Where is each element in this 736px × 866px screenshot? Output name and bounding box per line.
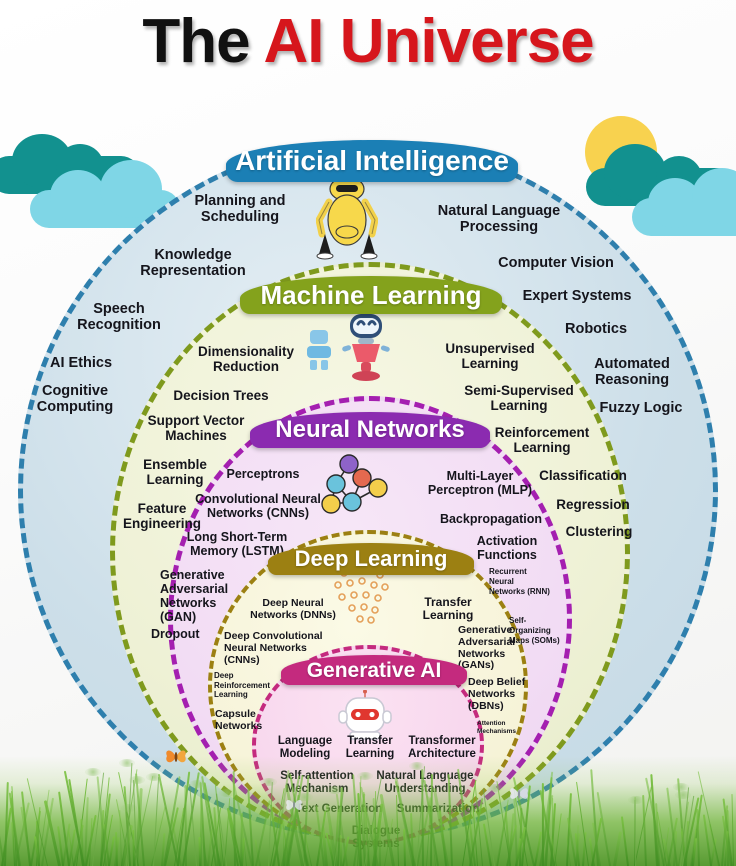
topic-attention-mechanisms[interactable]: Attention Mechanisms [477,720,533,736]
butterfly-icon [284,798,304,813]
topic-recurrent-neural-networks[interactable]: Recurrent Neural Networks (RNN) [489,567,575,596]
topic-regression[interactable]: Regression [538,497,648,512]
cloud-icon [632,168,736,236]
topic-multi-layer-perceptron[interactable]: Multi-Layer Perceptron (MLP) [416,469,544,497]
topic-support-vector-machines[interactable]: Support Vector Machines [131,413,261,443]
topic-deep-belief-networks[interactable]: Deep Belief Networks (DBNs) [468,677,538,712]
topic-transfer-learning-dl[interactable]: Transfer Learning [406,596,490,623]
butterfly-icon [508,786,530,802]
topic-dimensionality-reduction[interactable]: Dimensionality Reduction [176,344,316,374]
title-part-the: The [142,7,263,76]
topic-expert-systems[interactable]: Expert Systems [512,288,642,304]
topic-planning-and-scheduling[interactable]: Planning and Scheduling [172,193,308,225]
topic-semi-supervised-learning[interactable]: Semi-Supervised Learning [449,383,589,413]
topic-convolutional-neural-networks[interactable]: Convolutional Neural Networks (CNNs) [186,492,330,520]
topic-fuzzy-logic[interactable]: Fuzzy Logic [586,400,696,416]
topic-ai-ethics[interactable]: AI Ethics [28,355,134,371]
topic-generative-adversarial-networks-dl[interactable]: Generative Adversarial Networks (GANs) [458,625,532,672]
topic-backpropagation[interactable]: Backpropagation [424,512,558,526]
title-part-ai-universe: AI Universe [264,7,594,76]
topic-perceptrons[interactable]: Perceptrons [204,467,322,481]
topic-dropout[interactable]: Dropout [151,627,231,641]
banner-machine-learning[interactable]: Machine Learning [240,276,502,314]
topic-unsupervised-learning[interactable]: Unsupervised Learning [425,341,555,371]
topic-deep-neural-networks[interactable]: Deep Neural Networks (DNNs) [238,598,348,622]
robot-icon [338,310,394,382]
grass-decoration [0,756,736,866]
topic-reinforcement-learning[interactable]: Reinforcement Learning [478,425,606,455]
page-title: The AI Universe [0,6,736,77]
banner-artificial-intelligence[interactable]: Artificial Intelligence [226,140,518,182]
topic-decision-trees[interactable]: Decision Trees [156,388,286,403]
banner-label-ai: Artificial Intelligence [235,147,509,175]
topic-robotics[interactable]: Robotics [546,321,646,337]
topic-capsule-networks[interactable]: Capsule Networks [215,709,285,733]
topic-cognitive-computing[interactable]: Cognitive Computing [18,383,132,415]
topic-deep-reinforcement-learning[interactable]: Deep Reinforcement Learning [214,671,286,700]
banner-label-dl: Deep Learning [295,548,448,570]
topic-computer-vision[interactable]: Computer Vision [486,255,626,271]
banner-deep-learning[interactable]: Deep Learning [268,543,474,575]
topic-speech-recognition[interactable]: Speech Recognition [54,301,184,333]
topic-automated-reasoning[interactable]: Automated Reasoning [572,356,692,388]
banner-generative-ai[interactable]: Generative AI [281,655,467,685]
banner-label-nn: Neural Networks [275,418,464,442]
topic-knowledge-representation[interactable]: Knowledge Representation [118,247,268,279]
banner-neural-networks[interactable]: Neural Networks [250,412,490,448]
banner-label-gen: Generative AI [307,660,442,681]
topic-natural-language-processing[interactable]: Natural Language Processing [424,203,574,235]
banner-label-ml: Machine Learning [260,282,481,308]
butterfly-icon [164,748,188,766]
